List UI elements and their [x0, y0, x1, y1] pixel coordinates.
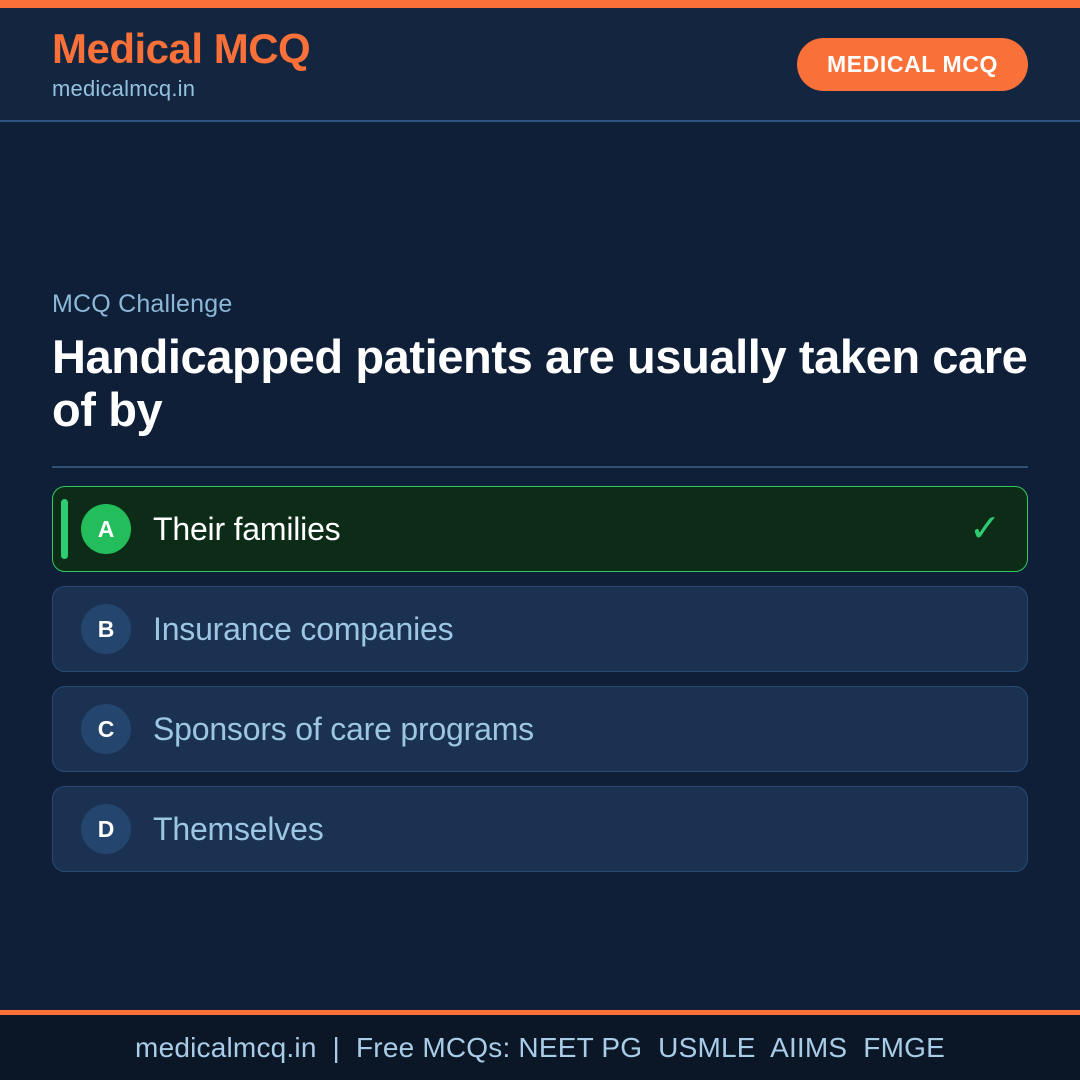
option-a-badge: A	[81, 504, 131, 554]
top-accent-bar	[0, 0, 1080, 8]
mcq-card: Medical MCQ medicalmcq.in MEDICAL MCQ MC…	[0, 0, 1080, 1080]
option-d-label: Themselves	[153, 811, 324, 848]
option-c-badge: C	[81, 704, 131, 754]
question-zone: MCQ Challenge Handicapped patients are u…	[52, 290, 1028, 468]
question-text: Handicapped patients are usually taken c…	[52, 331, 1028, 436]
option-c-label: Sponsors of care programs	[153, 711, 534, 748]
option-d[interactable]: D Themselves	[52, 786, 1028, 872]
option-a[interactable]: A Their families ✓	[52, 486, 1028, 572]
option-b-badge: B	[81, 604, 131, 654]
options-list: A Their families ✓ B Insurance companies…	[52, 486, 1028, 872]
eyebrow-label: MCQ Challenge	[52, 290, 1028, 319]
option-d-badge: D	[81, 804, 131, 854]
footer-text: medicalmcq.in | Free MCQs: NEET PG USMLE…	[135, 1032, 945, 1064]
brand-url: medicalmcq.in	[52, 78, 310, 100]
page-footer: medicalmcq.in | Free MCQs: NEET PG USMLE…	[0, 1010, 1080, 1080]
brand-block: Medical MCQ medicalmcq.in	[52, 28, 310, 100]
option-b-label: Insurance companies	[153, 611, 453, 648]
page-header: Medical MCQ medicalmcq.in MEDICAL MCQ	[0, 8, 1080, 122]
check-icon: ✓	[969, 510, 1001, 548]
main-content: MCQ Challenge Handicapped patients are u…	[0, 122, 1080, 1010]
option-a-label: Their families	[153, 511, 340, 548]
correct-accent-bar	[61, 499, 68, 559]
question-divider	[52, 466, 1028, 468]
header-badge: MEDICAL MCQ	[797, 38, 1028, 91]
brand-title: Medical MCQ	[52, 28, 310, 70]
option-c[interactable]: C Sponsors of care programs	[52, 686, 1028, 772]
option-b[interactable]: B Insurance companies	[52, 586, 1028, 672]
